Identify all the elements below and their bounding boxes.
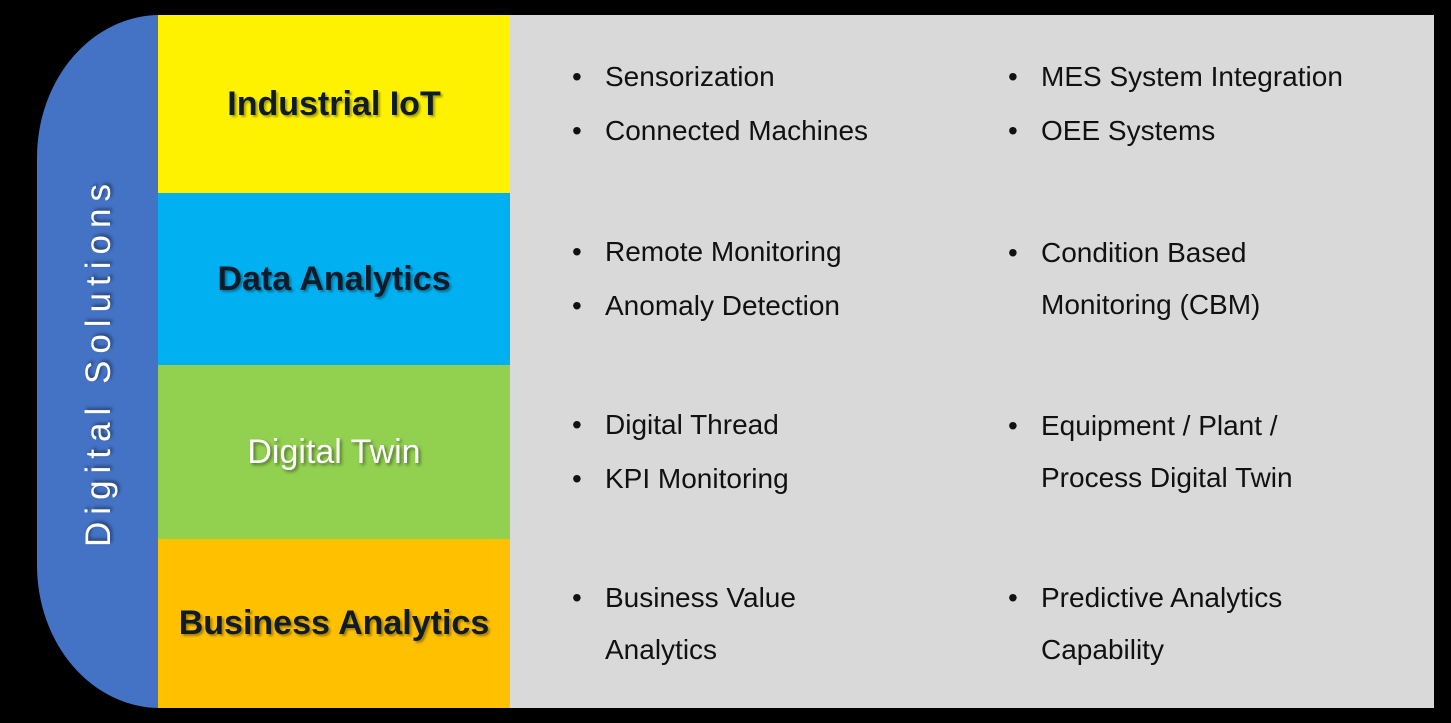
category-band-column: Industrial IoT Data Analytics Digital Tw… [158,15,510,708]
list-item-line: Analytics [605,636,966,664]
detail-column-right-digital-twin: • Equipment / Plant / Process Digital Tw… [976,365,1434,539]
list-item-label: Connected Machines [605,117,966,145]
list-item: • MES System Integration [1008,63,1422,91]
band-industrial-iot[interactable]: Industrial IoT [158,15,510,193]
list-item-line: Capability [1041,636,1422,664]
list-item-line: Connected Machines [605,117,966,145]
band-business-analytics[interactable]: Business Analytics [158,539,510,708]
band-data-analytics[interactable]: Data Analytics [158,193,510,365]
list-item: • Remote Monitoring [572,238,966,266]
band-label-business-analytics: Business Analytics [179,604,490,643]
list-item: • OEE Systems [1008,117,1422,145]
list-item-line: Sensorization [605,63,966,91]
list-item: • Sensorization [572,63,966,91]
bullet-icon: • [572,238,605,266]
detail-column-left-data-analytics: • Remote Monitoring • Anomaly Detection [510,193,976,365]
list-item-label: Equipment / Plant / Process Digital Twin [1041,412,1422,492]
list-item: • Equipment / Plant / Process Digital Tw… [1008,412,1422,492]
band-digital-twin[interactable]: Digital Twin [158,365,510,539]
bullet-icon: • [1008,63,1041,91]
details-panel: • Sensorization • Connected Machines • M… [510,15,1434,708]
list-item-label: Predictive Analytics Capability [1041,584,1422,664]
bullet-icon: • [572,465,605,493]
list-item-label: KPI Monitoring [605,465,966,493]
detail-column-left-business-analytics: • Business Value Analytics [510,539,976,708]
band-label-digital-twin: Digital Twin [247,433,420,472]
detail-row-data-analytics: • Remote Monitoring • Anomaly Detection … [510,193,1434,365]
list-item-line: Remote Monitoring [605,238,966,266]
bullet-icon: • [572,411,605,439]
bullet-icon: • [1008,239,1041,267]
list-item-label: OEE Systems [1041,117,1422,145]
list-item-label: Digital Thread [605,411,966,439]
bullet-icon: • [1008,117,1041,145]
band-label-industrial-iot: Industrial IoT [227,85,440,124]
band-label-data-analytics: Data Analytics [217,260,450,299]
list-item-label: Business Value Analytics [605,584,966,664]
detail-column-right-business-analytics: • Predictive Analytics Capability [976,539,1434,708]
list-item-line: Business Value [605,584,966,612]
slide-canvas: Digital Solutions Industrial IoT Data An… [0,0,1451,723]
list-item-line: Monitoring (CBM) [1041,291,1422,319]
sidebar-digital-solutions: Digital Solutions [37,15,160,708]
detail-row-business-analytics: • Business Value Analytics • Predictive … [510,539,1434,708]
list-item-line: KPI Monitoring [605,465,966,493]
list-item-label: Sensorization [605,63,966,91]
list-item: • Anomaly Detection [572,292,966,320]
list-item: • KPI Monitoring [572,465,966,493]
list-item-line: Anomaly Detection [605,292,966,320]
bullet-icon: • [572,63,605,91]
list-item-line: Process Digital Twin [1041,464,1422,492]
sidebar-title: Digital Solutions [79,177,119,547]
list-item-line: Equipment / Plant / [1041,412,1422,440]
detail-column-right-data-analytics: • Condition Based Monitoring (CBM) [976,193,1434,365]
bullet-icon: • [572,117,605,145]
bullet-icon: • [1008,584,1041,612]
list-item-label: Anomaly Detection [605,292,966,320]
list-item-line: Digital Thread [605,411,966,439]
bullet-icon: • [572,292,605,320]
detail-row-industrial-iot: • Sensorization • Connected Machines • M… [510,15,1434,193]
sidebar-label-wrapper: Digital Solutions [37,15,160,708]
list-item: • Business Value Analytics [572,584,966,664]
list-item-line: OEE Systems [1041,117,1422,145]
detail-column-left-digital-twin: • Digital Thread • KPI Monitoring [510,365,976,539]
list-item: • Predictive Analytics Capability [1008,584,1422,664]
list-item-line: MES System Integration [1041,63,1422,91]
list-item: • Condition Based Monitoring (CBM) [1008,239,1422,319]
detail-column-right-industrial-iot: • MES System Integration • OEE Systems [976,15,1434,193]
list-item: • Digital Thread [572,411,966,439]
list-item-label: MES System Integration [1041,63,1422,91]
bullet-icon: • [1008,412,1041,440]
detail-row-digital-twin: • Digital Thread • KPI Monitoring • Equi… [510,365,1434,539]
list-item-label: Remote Monitoring [605,238,966,266]
list-item-line: Condition Based [1041,239,1422,267]
detail-column-left-industrial-iot: • Sensorization • Connected Machines [510,15,976,193]
list-item: • Connected Machines [572,117,966,145]
list-item-line: Predictive Analytics [1041,584,1422,612]
list-item-label: Condition Based Monitoring (CBM) [1041,239,1422,319]
bullet-icon: • [572,584,605,612]
